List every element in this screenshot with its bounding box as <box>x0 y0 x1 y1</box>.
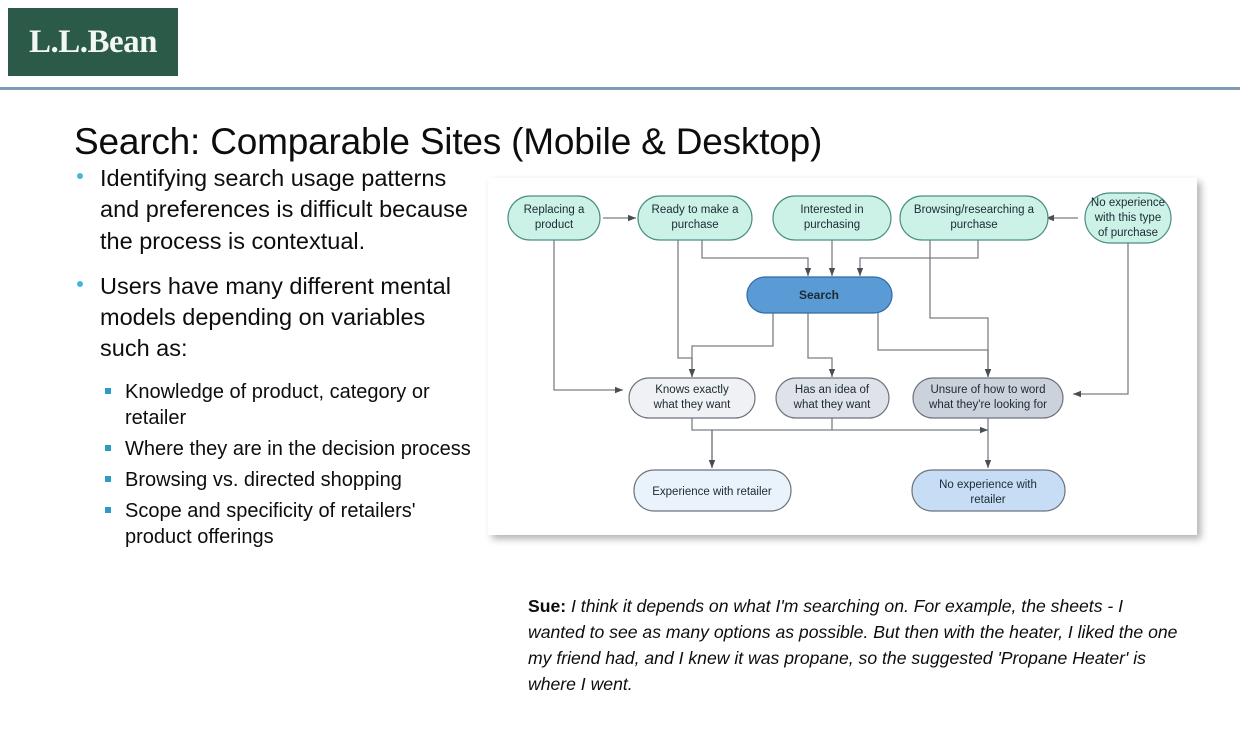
node-no-experience-with-retailer[interactable]: No experience with retailer <box>912 470 1065 511</box>
node-label: Experience with retailer <box>652 486 772 498</box>
bullet-list: Identifying search usage patterns and pr… <box>70 163 480 555</box>
quote-speaker: Sue: <box>528 596 566 616</box>
sub-bullet-text: Knowledge of product, category or retail… <box>125 381 430 429</box>
page-title: Search: Comparable Sites (Mobile & Deskt… <box>74 121 822 163</box>
diagram-panel: Replacing a product Ready to make a purc… <box>488 178 1197 535</box>
sub-bullet-list: Knowledge of product, category or retail… <box>70 379 480 550</box>
bullet-text: Identifying search usage patterns and pr… <box>100 165 468 254</box>
bullet-square-icon <box>105 476 111 482</box>
node-label: Browsing/researching a <box>914 204 1035 216</box>
node-label: retailer <box>970 494 1005 506</box>
edge-search-to-knows <box>692 311 773 377</box>
node-label: Has an idea of <box>795 384 870 396</box>
edge-ready-to-knows <box>678 240 692 377</box>
sub-bullet-text: Where they are in the decision process <box>125 438 471 460</box>
edge-ready-to-search <box>702 240 808 276</box>
node-label: Replacing a <box>524 204 585 216</box>
mental-models-flowchart: Replacing a product Ready to make a purc… <box>488 178 1197 535</box>
node-label: what they want <box>653 399 732 411</box>
node-search[interactable]: Search <box>747 277 892 313</box>
node-knows-exactly-what-they-want[interactable]: Knows exactly what they want <box>629 378 755 418</box>
node-has-an-idea-of-what-they-want[interactable]: Has an idea of what they want <box>776 378 889 418</box>
bullet-square-icon <box>105 445 111 451</box>
node-interested-in-purchasing[interactable]: Interested in purchasing <box>773 196 891 240</box>
sub-bullet-text: Scope and specificity of retailers' prod… <box>125 500 416 548</box>
node-replacing-product[interactable]: Replacing a product <box>508 196 600 240</box>
node-label: purchasing <box>804 219 860 231</box>
node-label: No experience <box>1091 197 1165 209</box>
sub-bullet-item: Where they are in the decision process <box>70 436 480 462</box>
bullet-dot-icon <box>77 281 83 287</box>
node-label: No experience with <box>939 479 1037 491</box>
bullet-item: Identifying search usage patterns and pr… <box>70 163 480 257</box>
node-ready-to-make-a-purchase[interactable]: Ready to make a purchase <box>638 196 752 240</box>
bullet-text: Users have many different mental models … <box>100 273 451 362</box>
bullet-square-icon <box>105 507 111 513</box>
node-label: Interested in <box>800 204 863 216</box>
logo-text: L.L.Bean <box>29 26 157 59</box>
node-unsure-of-how-to-word[interactable]: Unsure of how to word what they're looki… <box>913 378 1063 418</box>
edge-search-to-idea <box>808 311 832 377</box>
node-label: Unsure of how to word <box>930 384 1045 396</box>
node-label: Ready to make a <box>652 204 740 216</box>
sub-bullet-text: Browsing vs. directed shopping <box>125 469 402 491</box>
edge-browsing-to-unsure <box>930 240 988 377</box>
edge-search-to-unsure <box>878 311 988 377</box>
bullet-item: Users have many different mental models … <box>70 271 480 365</box>
edge-browsing-to-search <box>860 240 978 276</box>
participant-quote: Sue: I think it depends on what I'm sear… <box>528 594 1178 697</box>
edge-layer <box>554 218 1128 468</box>
node-label: Knows exactly <box>655 384 729 396</box>
node-label: purchase <box>950 219 997 231</box>
node-no-experience-with-this-type-of-purchase[interactable]: No experience with this type of purchase <box>1085 193 1171 243</box>
node-label: product <box>535 219 574 231</box>
bullet-square-icon <box>105 388 111 394</box>
header-divider <box>0 87 1240 90</box>
node-experience-with-retailer[interactable]: Experience with retailer <box>634 470 791 511</box>
node-label: purchase <box>671 219 718 231</box>
bullet-dot-icon <box>77 173 83 179</box>
node-label: with this type <box>1094 212 1161 224</box>
node-label: what they want <box>793 399 872 411</box>
quote-text: I think it depends on what I'm searching… <box>528 596 1177 694</box>
node-label: of purchase <box>1098 227 1158 239</box>
llbean-logo: L.L.Bean <box>8 8 178 76</box>
sub-bullet-item: Browsing vs. directed shopping <box>70 467 480 493</box>
node-label: what they're looking for <box>928 399 1047 411</box>
edge-noexptype-to-unsure <box>1073 240 1128 394</box>
edge-replacing-to-knows <box>554 240 623 390</box>
sub-bullet-item: Scope and specificity of retailers' prod… <box>70 498 480 550</box>
node-browsing-researching-a-purchase[interactable]: Browsing/researching a purchase <box>900 196 1048 240</box>
node-label: Search <box>799 288 839 302</box>
sub-bullet-item: Knowledge of product, category or retail… <box>70 379 480 431</box>
